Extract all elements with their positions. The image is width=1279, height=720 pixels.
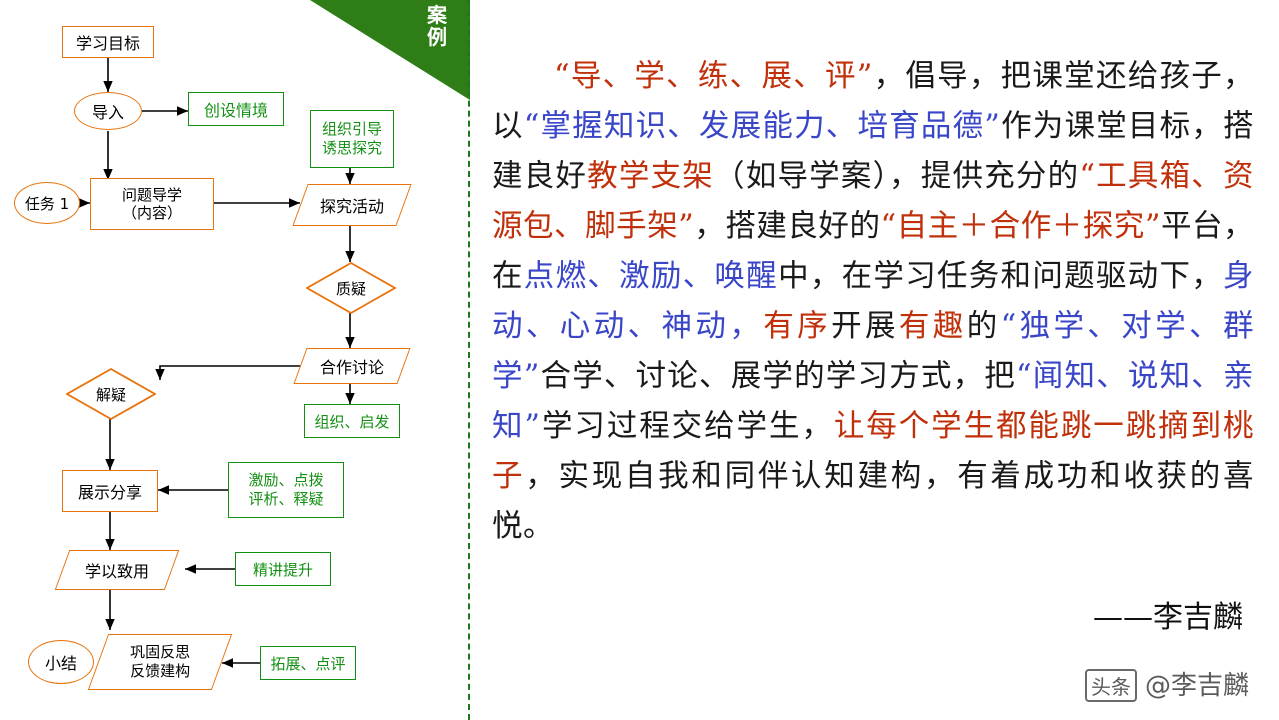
node-show: 展示分享 (62, 470, 158, 512)
article-segment: 有序 (763, 309, 831, 344)
article-segment: 有趣 (899, 309, 967, 344)
node-intro: 导入 (74, 92, 142, 130)
node-apply: 学以致用 (55, 550, 180, 590)
article-segment: 点燃、激励、唤醒 (524, 259, 778, 294)
article-segment: “导、学、练、展、评” (554, 59, 873, 94)
node-question: 问题导学 （内容） (90, 178, 214, 230)
article-segment: 中，在学习任务和问题驱动下， (778, 259, 1223, 294)
node-encourage-label: 激励、点拨 评析、释疑 (248, 471, 323, 509)
node-situation: 创设情境 (188, 92, 284, 126)
node-refine: 精讲提升 (235, 552, 331, 586)
node-show-label: 展示分享 (78, 479, 142, 503)
article-segment: 开展 (831, 309, 899, 344)
slide-page: 案例 学习目标 导入 创设情境 组织引导 诱思探究 任务 1 问题导学 （内容）… (0, 0, 1279, 720)
node-task1: 任务 1 (14, 182, 80, 224)
node-summary: 小结 (28, 640, 94, 684)
article-segment: （如导学案），提供充分的 (714, 159, 1079, 194)
article-paragraph: “导、学、练、展、评”，倡导，把课堂还给孩子，以“掌握知识、发展能力、培育品德”… (492, 52, 1254, 552)
node-inquiry-label: 探究活动 (320, 193, 384, 217)
node-apply-label: 学以致用 (85, 558, 149, 582)
node-intro-label: 导入 (92, 99, 124, 123)
node-task1-label: 任务 1 (25, 193, 69, 214)
node-doubt: 质疑 (306, 262, 396, 314)
watermark-badge: 头条 (1085, 669, 1137, 702)
node-goal: 学习目标 (62, 26, 154, 58)
vertical-dashed-divider (468, 0, 470, 720)
flowchart-panel: 案例 学习目标 导入 创设情境 组织引导 诱思探究 任务 1 问题导学 （内容）… (0, 0, 470, 720)
article-signature: ——李吉麟 (1093, 592, 1243, 636)
node-refine-label: 精讲提升 (253, 559, 313, 580)
node-consolidate-label: 巩固反思 反馈建构 (130, 643, 190, 681)
article-segment: 学习过程交给学生， (541, 409, 834, 444)
article-segment: ，搭建良好的 (694, 209, 880, 244)
article-panel: “导、学、练、展、评”，倡导，把课堂还给孩子，以“掌握知识、发展能力、培育品德”… (472, 0, 1279, 720)
article-segment: 教学支架 (587, 159, 714, 194)
article-segment: 合学、讨论、展学的学习方式，把 (540, 359, 1016, 394)
node-encourage: 激励、点拨 评析、释疑 (228, 462, 344, 518)
node-discuss: 合作讨论 (293, 348, 410, 384)
node-resolve-label: 解疑 (66, 368, 156, 420)
node-question-label: 问题导学 （内容） (122, 186, 182, 223)
node-inquiry: 探究活动 (292, 184, 411, 226)
watermark-text: @李吉麟 (1145, 671, 1249, 701)
article-segment: “掌握知识、发展能力、培育品德” (524, 109, 1001, 144)
node-organize-label: 组织引导 诱思探究 (322, 120, 382, 158)
article-segment: “自主＋合作＋探究” (880, 209, 1160, 244)
node-inspire: 组织、启发 (304, 404, 400, 438)
node-organize: 组织引导 诱思探究 (310, 110, 394, 168)
node-doubt-label: 质疑 (306, 262, 396, 314)
node-consolidate: 巩固反思 反馈建构 (88, 634, 232, 690)
watermark: 头条@李吉麟 (1085, 665, 1249, 702)
node-situation-label: 创设情境 (204, 97, 268, 121)
node-inspire-label: 组织、启发 (314, 411, 389, 432)
article-segment: 的 (967, 309, 1001, 344)
corner-label: 案例 (424, 4, 450, 49)
node-summary-label: 小结 (45, 650, 77, 674)
node-discuss-label: 合作讨论 (320, 354, 384, 378)
node-goal-label: 学习目标 (76, 30, 140, 54)
case-corner-banner: 案例 (310, 0, 470, 100)
node-resolve: 解疑 (66, 368, 156, 420)
article-segment: ，实现自我和同伴认知建构，有着成功和收获的喜悦。 (492, 459, 1254, 544)
node-extend-label: 拓展、点评 (270, 653, 345, 674)
node-extend: 拓展、点评 (260, 646, 356, 680)
